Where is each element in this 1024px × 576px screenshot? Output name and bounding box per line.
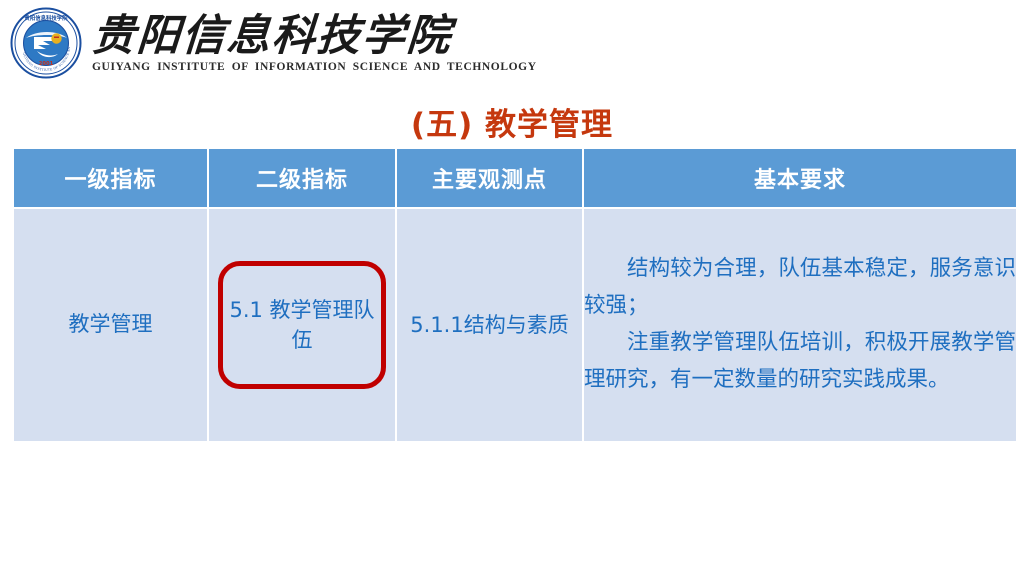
evaluation-table: 一级指标 二级指标 主要观测点 基本要求 教学管理 5.1 教学管理队伍 5.1… <box>12 147 1018 443</box>
cell-secondary-indicator: 5.1 教学管理队伍 <box>209 209 395 441</box>
institution-name-cn: 贵阳信息科技学院 <box>90 13 538 59</box>
requirement-paragraph-2: 注重教学管理队伍培训，积极开展教学管理研究，有一定数量的研究实践成果。 <box>584 325 1016 399</box>
table-row: 教学管理 5.1 教学管理队伍 5.1.1结构与素质 结构较为合理，队伍基本稳定… <box>14 209 1016 441</box>
red-highlight-box: 5.1 教学管理队伍 <box>218 261 386 389</box>
table-body: 教学管理 5.1 教学管理队伍 5.1.1结构与素质 结构较为合理，队伍基本稳定… <box>14 209 1016 441</box>
column-header-primary-indicator: 一级指标 <box>14 149 207 207</box>
institution-name-block: 贵阳信息科技学院 GUIYANG INSTITUTE OF INFORMATIO… <box>92 13 537 74</box>
column-header-basic-requirement: 基本要求 <box>584 149 1016 207</box>
institution-header: 2001 贵阳信息科技学院 GUIYANG INSTITUTE OF SCIEN… <box>0 0 1024 86</box>
secondary-indicator-wrapper: 5.1 教学管理队伍 <box>209 209 395 441</box>
column-header-observation-point: 主要观测点 <box>397 149 582 207</box>
institution-name-en: GUIYANG INSTITUTE OF INFORMATION SCIENCE… <box>92 62 537 74</box>
svg-text:贵阳信息科技学院: 贵阳信息科技学院 <box>24 14 68 22</box>
table-header: 一级指标 二级指标 主要观测点 基本要求 <box>14 149 1016 207</box>
table-header-row: 一级指标 二级指标 主要观测点 基本要求 <box>14 149 1016 207</box>
slide: 2001 贵阳信息科技学院 GUIYANG INSTITUTE OF SCIEN… <box>0 0 1024 576</box>
column-header-secondary-indicator: 二级指标 <box>209 149 395 207</box>
svg-text:2001: 2001 <box>39 61 54 67</box>
secondary-indicator-label: 5.1 教学管理队伍 <box>227 295 377 356</box>
university-emblem-icon: 2001 贵阳信息科技学院 GUIYANG INSTITUTE OF SCIEN… <box>10 7 82 79</box>
cell-primary-indicator: 教学管理 <box>14 209 207 441</box>
cell-observation-point: 5.1.1结构与素质 <box>397 209 582 441</box>
cell-basic-requirement: 结构较为合理，队伍基本稳定，服务意识较强； 注重教学管理队伍培训，积极开展教学管… <box>584 209 1016 441</box>
requirement-paragraph-1: 结构较为合理，队伍基本稳定，服务意识较强； <box>584 251 1016 325</box>
page-title: (五) 教学管理 <box>0 99 1024 144</box>
